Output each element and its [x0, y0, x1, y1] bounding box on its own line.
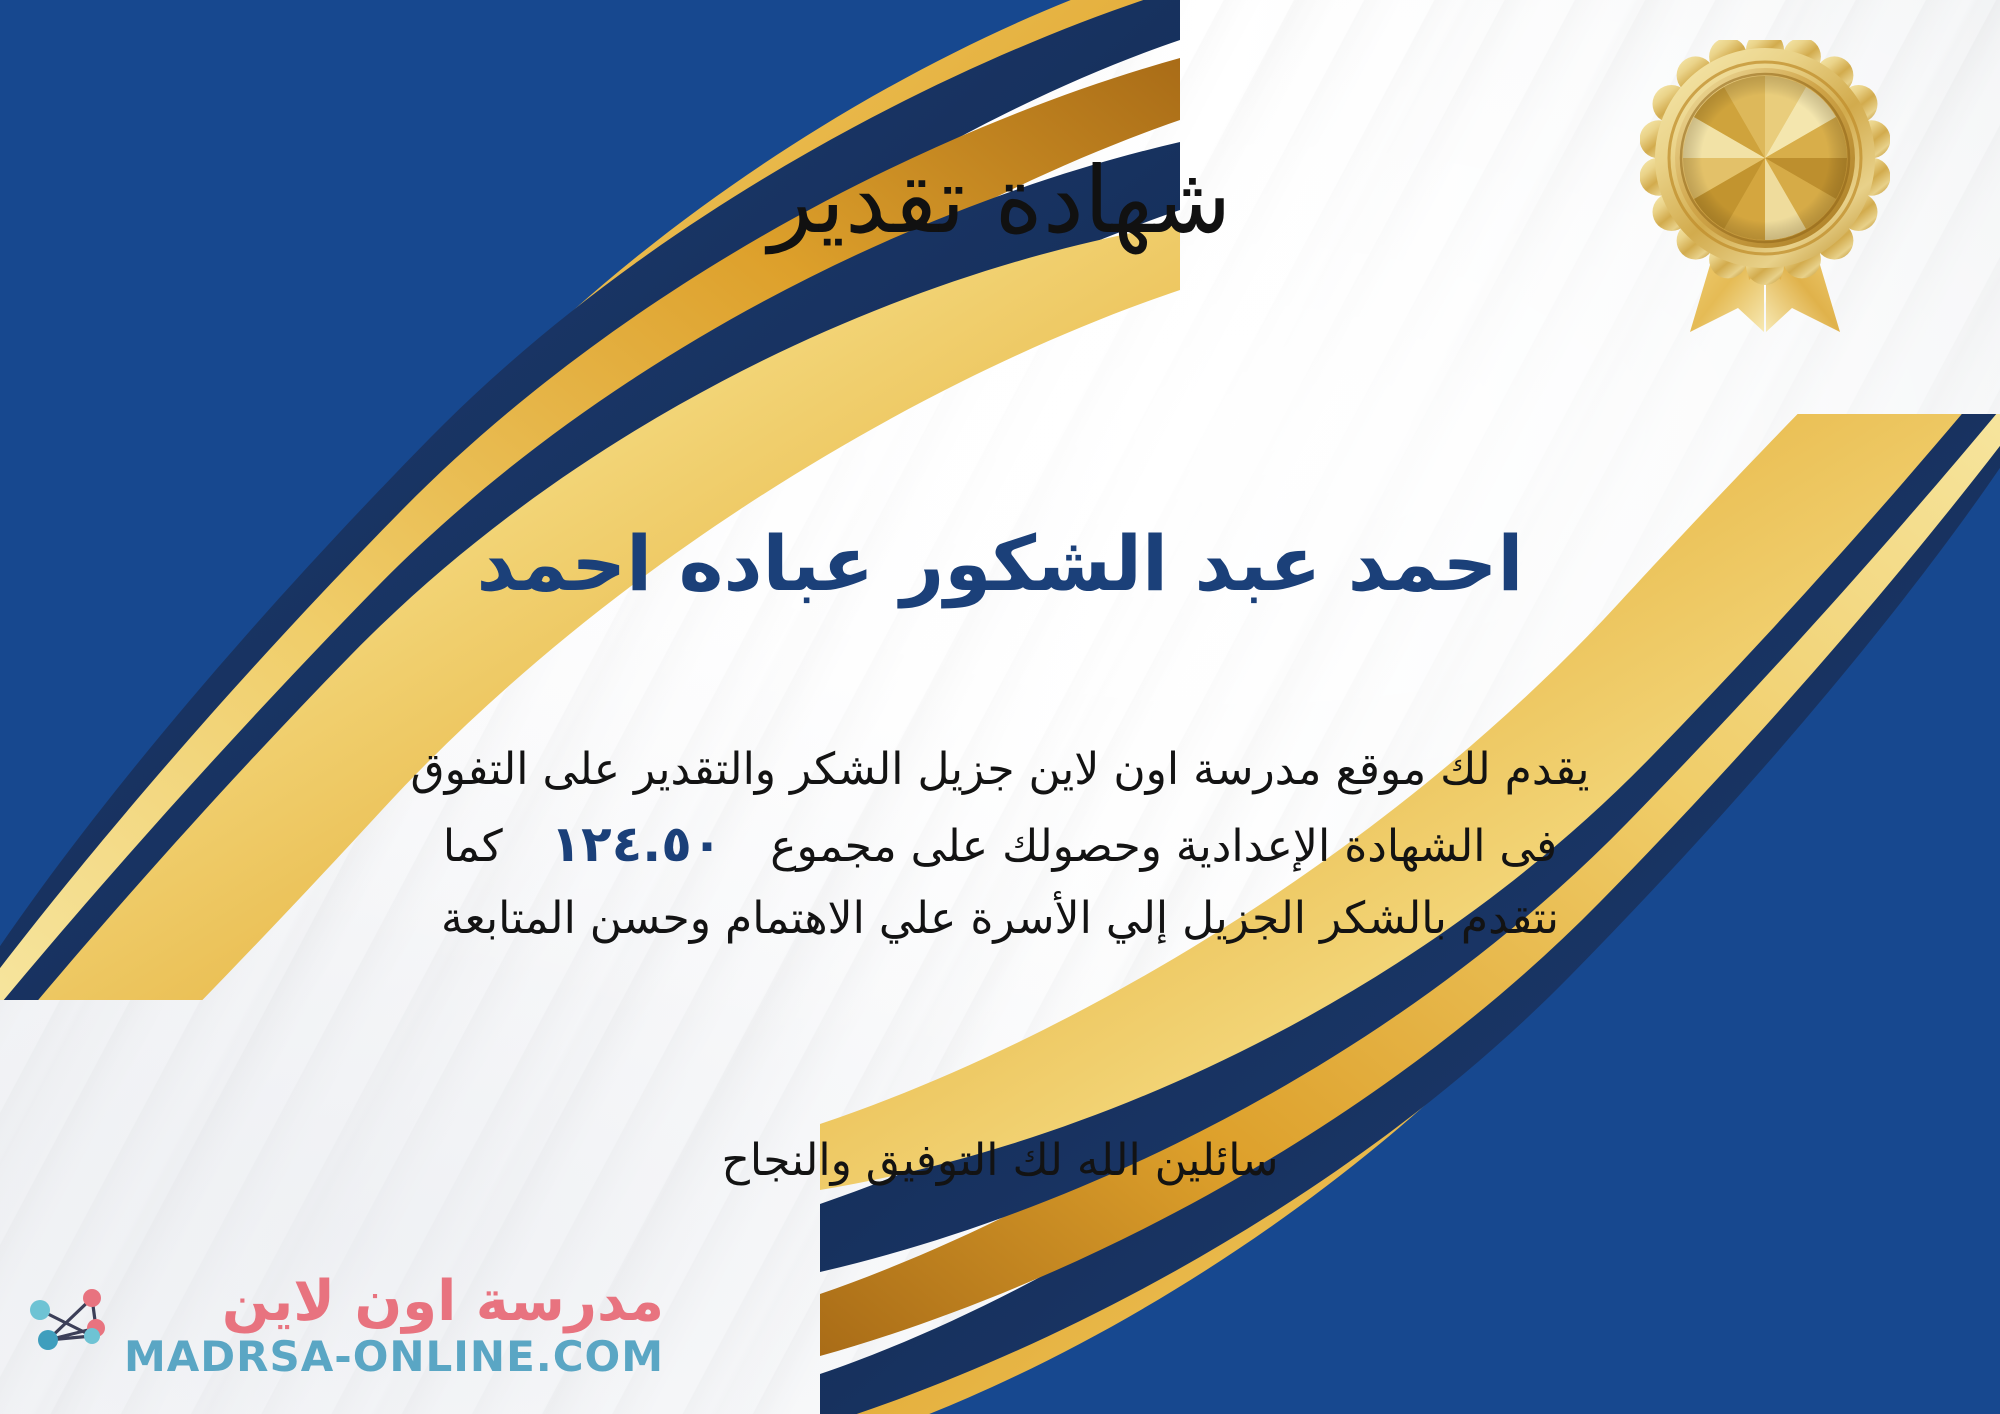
- brand-logo[interactable]: مدرسة اون لاين MADRSA-ONLINE.COM: [26, 1274, 664, 1378]
- certificate-content: شهادة تقدير احمد عبد الشكور عباده احمد ي…: [0, 0, 2000, 1414]
- certificate-body: يقدم لك موقع مدرسة اون لاين جزيل الشكر و…: [60, 735, 1940, 953]
- body-line-3: نتقدم بالشكر الجزيل إلي الأسرة علي الاهت…: [60, 884, 1940, 954]
- body-line-2: فى الشهادة الإعدادية وحصولك على مجموع ١٢…: [60, 805, 1940, 884]
- student-name: احمد عبد الشكور عباده احمد: [0, 520, 2000, 607]
- body-line-2-prefix: فى الشهادة الإعدادية وحصولك على مجموع: [770, 812, 1557, 882]
- closing-wish: سائلين الله لك التوفيق والنجاح: [0, 1135, 2000, 1186]
- certificate-canvas: شهادة تقدير احمد عبد الشكور عباده احمد ي…: [0, 0, 2000, 1414]
- network-nodes-icon: [26, 1284, 110, 1368]
- body-line-2-suffix: كما: [443, 812, 503, 882]
- certificate-title: شهادة تقدير: [0, 150, 2000, 251]
- brand-text: مدرسة اون لاين MADRSA-ONLINE.COM: [124, 1274, 664, 1378]
- body-line-1: يقدم لك موقع مدرسة اون لاين جزيل الشكر و…: [60, 735, 1940, 805]
- brand-name-arabic: مدرسة اون لاين: [222, 1274, 664, 1330]
- brand-domain: MADRSA-ONLINE.COM: [124, 1336, 664, 1378]
- grade-total-value: ١٢٤.٥٠: [529, 805, 745, 884]
